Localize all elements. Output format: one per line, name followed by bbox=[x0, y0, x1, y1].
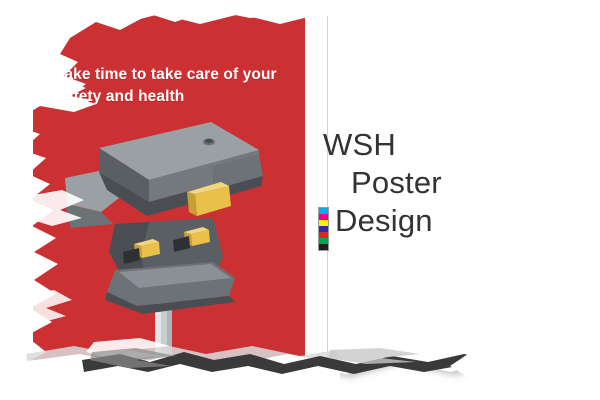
poster-artboard: Take time to take care of your safety an… bbox=[33, 14, 458, 364]
swatch-black bbox=[319, 244, 328, 250]
wsh-poster-design-title: WSH Poster Design bbox=[315, 126, 465, 239]
title-line-poster: Poster bbox=[315, 164, 465, 202]
anvil-machine-illustration bbox=[63, 106, 263, 371]
poster-headline: Take time to take care of your safety an… bbox=[56, 64, 286, 109]
title-line-wsh: WSH bbox=[315, 126, 465, 164]
poster-footer-text: Overload your outlets bbox=[111, 355, 351, 370]
poster-preview-canvas: Take time to take care of your safety an… bbox=[0, 0, 600, 400]
title-line-design: Design bbox=[315, 202, 465, 240]
